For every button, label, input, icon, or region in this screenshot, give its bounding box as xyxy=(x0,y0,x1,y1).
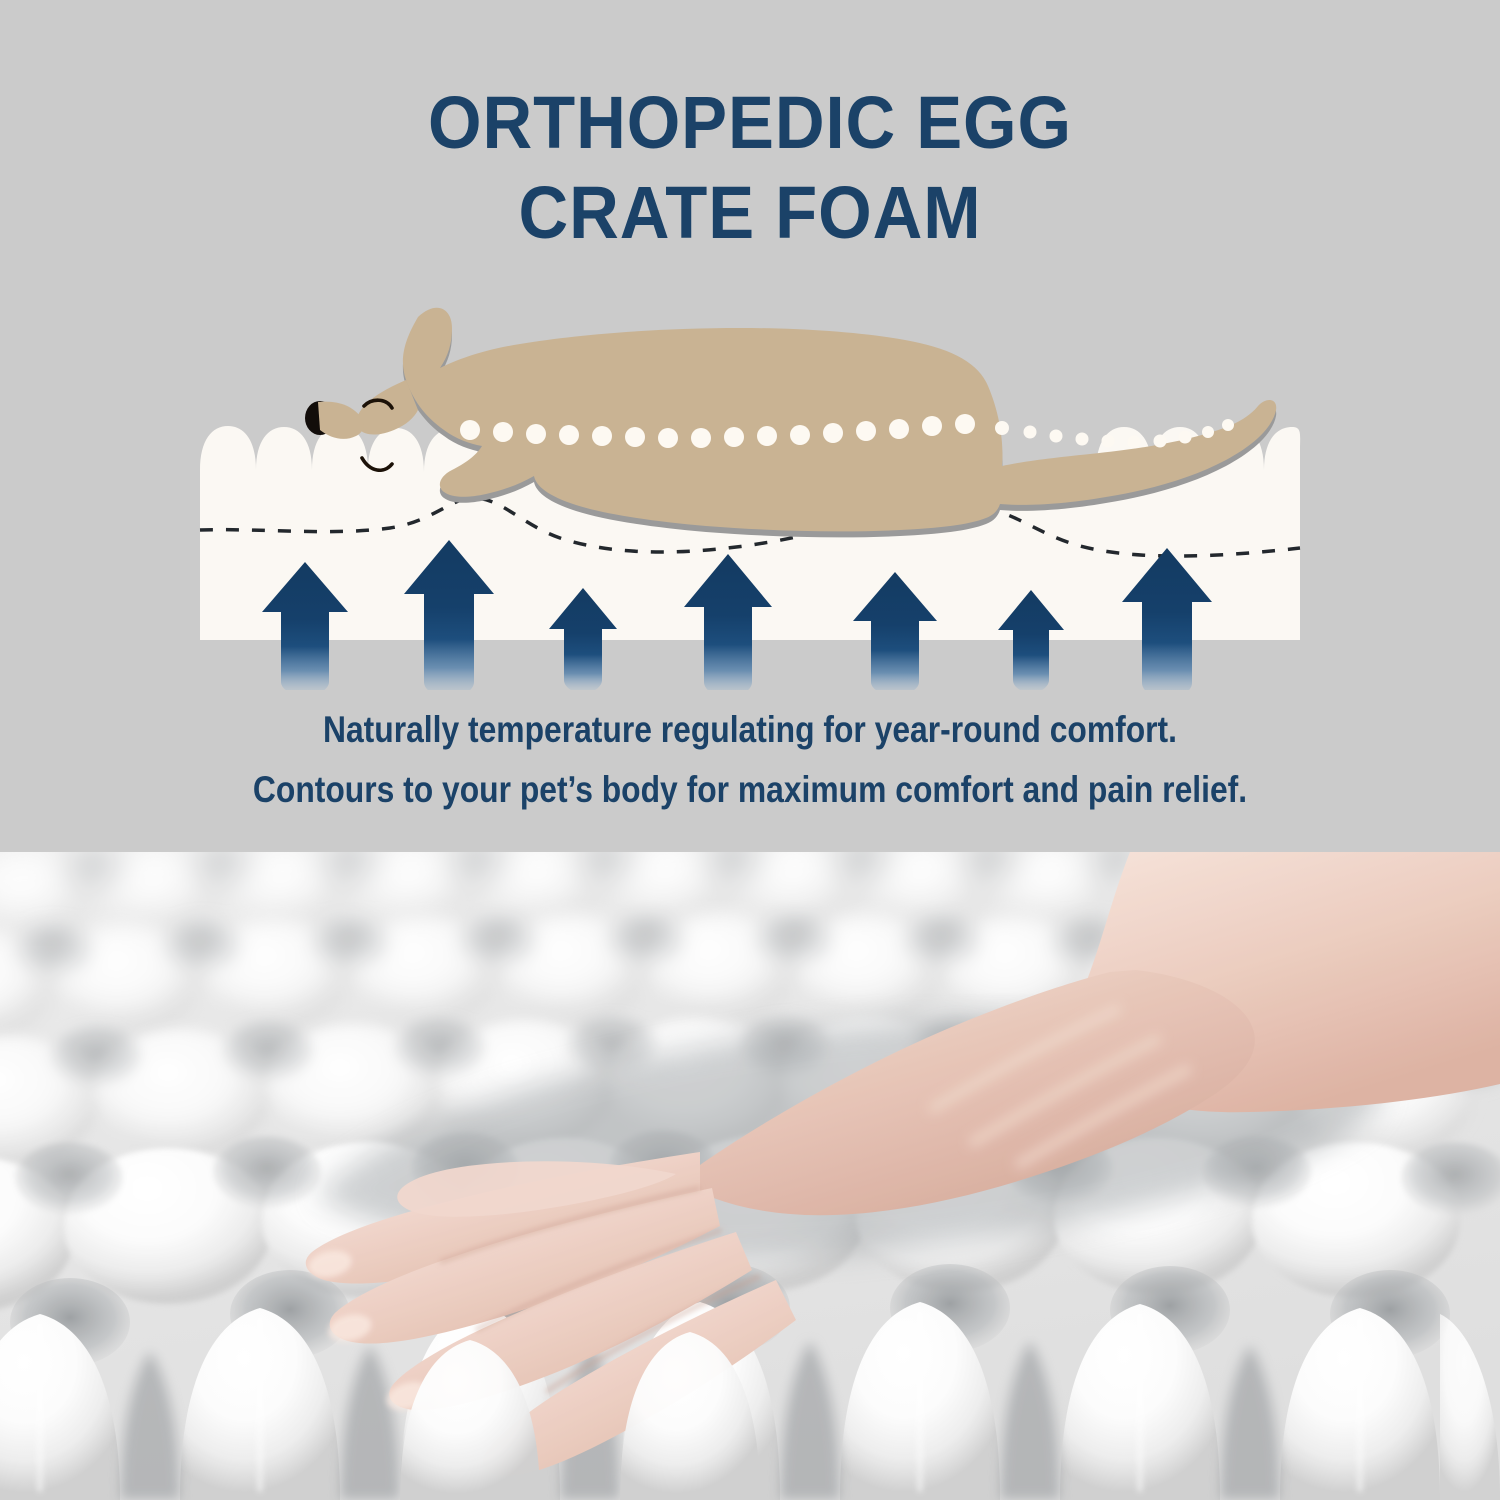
hand-pressing-egg-crate-foam-photo xyxy=(0,852,1500,1500)
diagram xyxy=(0,300,1500,690)
page-title: ORTHOPEDIC EGG CRATE FOAM xyxy=(53,78,1448,258)
product-feature-graphic: ORTHOPEDIC EGG CRATE FOAM xyxy=(0,0,1500,1500)
caption-text: Naturally temperature regulating for yea… xyxy=(105,700,1395,820)
infographic-panel: ORTHOPEDIC EGG CRATE FOAM xyxy=(0,0,1500,852)
